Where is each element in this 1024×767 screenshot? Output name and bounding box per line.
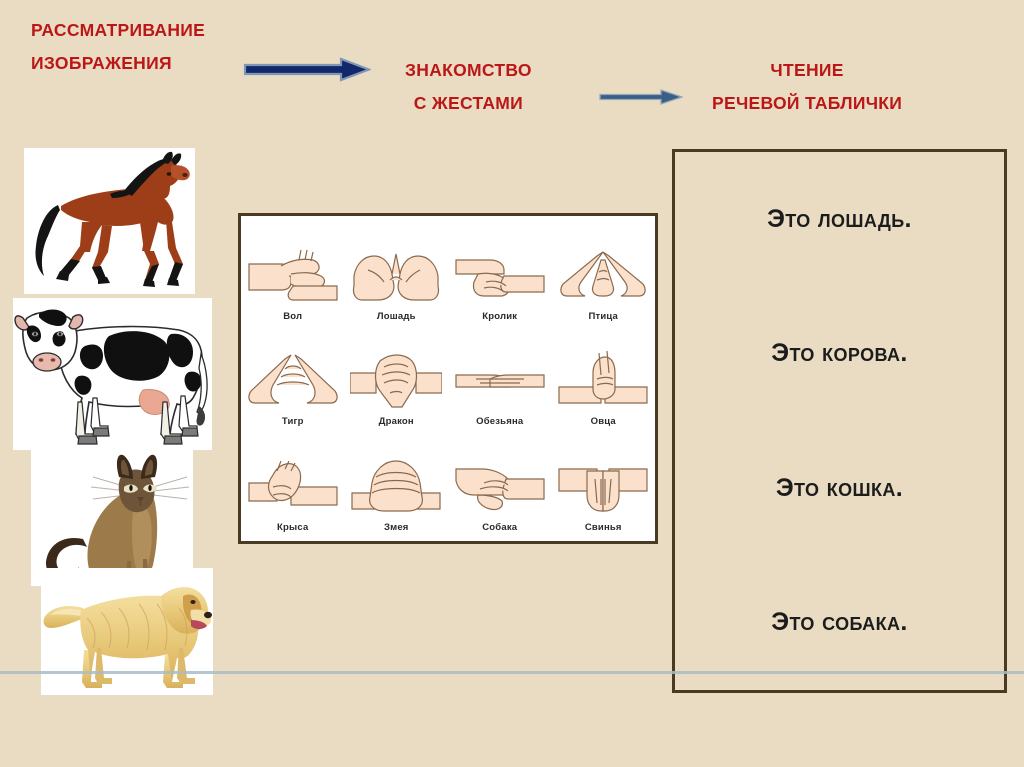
gesture-grid: Вол Лошадь [241, 220, 655, 537]
header-step-1-line-2: ИЗОБРАЖЕНИЯ [31, 53, 172, 73]
gesture-label: Крыса [277, 522, 308, 533]
gesture-cell-bird[interactable]: Птица [552, 220, 656, 326]
speech-phrase-horse: Это лошадь. [767, 205, 912, 234]
gesture-cell-sheep[interactable]: Овца [552, 326, 656, 432]
speech-phrase-cow: Это корова. [771, 339, 908, 368]
speech-phrase-list: Это лошадь. Это корова. Это кошка. Это с… [675, 152, 1004, 690]
gesture-label: Обезьяна [476, 416, 523, 427]
speech-phrase-row: Это кошка. [675, 421, 1004, 556]
gesture-cell-tiger[interactable]: Тигр [241, 326, 345, 432]
gesture-cell-dragon[interactable]: Дракон [345, 326, 449, 432]
gesture-cell-ox[interactable]: Вол [241, 220, 345, 326]
animal-image-cow [13, 298, 212, 450]
gesture-label: Тигр [282, 416, 304, 427]
header-step-3: ЧТЕНИЕ РЕЧЕВОЙ ТАБЛИЧКИ [712, 54, 902, 120]
speech-phrase-row: Это корова. [675, 287, 1004, 422]
gesture-label: Свинья [585, 522, 622, 533]
animal-image-horse [24, 148, 195, 294]
header-step-1: РАССМАТРИВАНИЕ ИЗОБРАЖЕНИЯ [31, 14, 205, 80]
arrow-right-icon-2 [599, 88, 683, 106]
header-step-2: ЗНАКОМСТВО С ЖЕСТАМИ [405, 54, 532, 120]
gesture-cell-monkey[interactable]: Обезьяна [448, 326, 552, 432]
gesture-label: Змея [384, 522, 409, 533]
header-step-3-line-1: ЧТЕНИЕ [770, 60, 843, 80]
speech-phrase-row: Это собака. [675, 556, 1004, 691]
gesture-label: Лошадь [377, 311, 416, 322]
animal-image-cat [31, 447, 193, 586]
gesture-label: Птица [588, 311, 618, 322]
arrow-right-icon-1 [243, 57, 371, 82]
speech-phrase-dog: Это собака. [771, 608, 907, 637]
speech-phrase-row: Это лошадь. [675, 152, 1004, 287]
gesture-label: Овца [591, 416, 616, 427]
header-step-2-line-2: С ЖЕСТАМИ [405, 87, 532, 120]
decorative-horizontal-rule [0, 671, 1024, 674]
gesture-cell-rabbit[interactable]: Кролик [448, 220, 552, 326]
speech-phrase-cat: Это кошка. [776, 474, 903, 503]
gesture-cell-pig[interactable]: Свинья [552, 431, 656, 537]
speech-tablet-panel: Это лошадь. Это корова. Это кошка. Это с… [672, 149, 1007, 693]
gesture-label: Собака [482, 522, 517, 533]
gesture-label: Кролик [482, 311, 517, 322]
slide-canvas: РАССМАТРИВАНИЕ ИЗОБРАЖЕНИЯ ЗНАКОМСТВО С … [0, 0, 1024, 767]
gesture-chart: Вол Лошадь [238, 213, 658, 544]
gesture-cell-rat[interactable]: Крыса [241, 431, 345, 537]
header-step-2-line-1: ЗНАКОМСТВО [405, 60, 532, 80]
header-step-3-line-2: РЕЧЕВОЙ ТАБЛИЧКИ [712, 87, 902, 120]
gesture-cell-horse[interactable]: Лошадь [345, 220, 449, 326]
animal-image-dog [41, 568, 213, 695]
gesture-cell-snake[interactable]: Змея [345, 431, 449, 537]
gesture-cell-dog[interactable]: Собака [448, 431, 552, 537]
header-step-1-line-1: РАССМАТРИВАНИЕ [31, 20, 205, 40]
gesture-label: Вол [283, 311, 302, 322]
gesture-label: Дракон [379, 416, 414, 427]
